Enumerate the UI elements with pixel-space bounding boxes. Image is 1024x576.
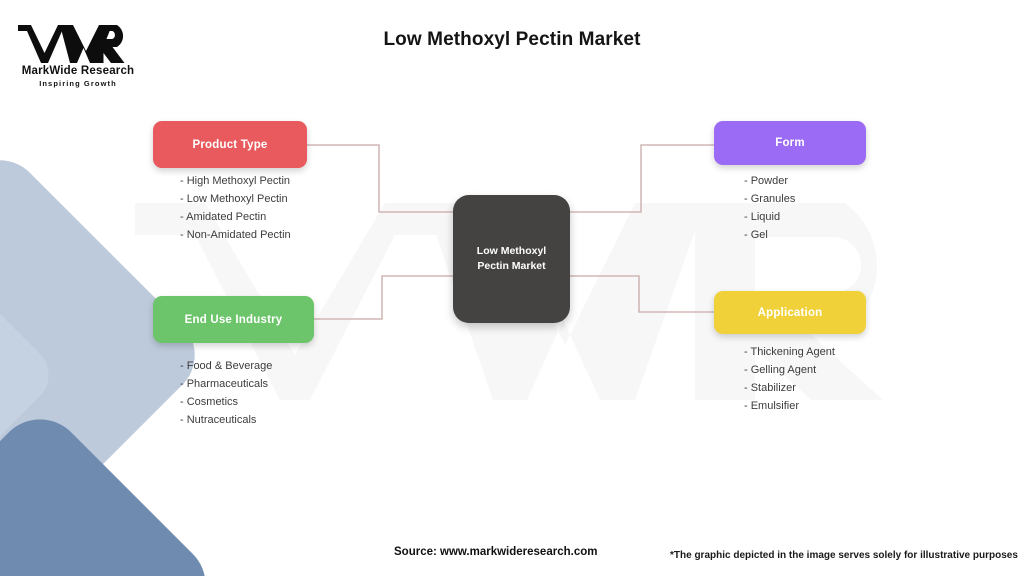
list-item: - Emulsifier	[744, 397, 835, 415]
list-item: - Powder	[744, 172, 795, 190]
list-item: - Thickening Agent	[744, 343, 835, 361]
list-item: - Low Methoxyl Pectin	[180, 190, 291, 208]
segment-list-application: - Thickening Agent - Gelling Agent - Sta…	[744, 343, 835, 415]
list-item: - Food & Beverage	[180, 357, 272, 375]
center-node[interactable]: Low Methoxyl Pectin Market	[453, 195, 570, 323]
segment-list-form: - Powder - Granules - Liquid - Gel	[744, 172, 795, 244]
list-item: - Non-Amidated Pectin	[180, 226, 291, 244]
connector-application	[568, 276, 714, 312]
segment-list-end-use-industry: - Food & Beverage - Pharmaceuticals - Co…	[180, 357, 272, 429]
list-item: - Granules	[744, 190, 795, 208]
connector-end-use-industry	[314, 276, 455, 319]
segment-label-end-use-industry: End Use Industry	[185, 314, 283, 326]
segment-label-product-type: Product Type	[192, 139, 267, 151]
segment-box-form[interactable]: Form	[714, 121, 866, 165]
infographic-canvas: MarkWide Research Inspiring Growth Low M…	[0, 0, 1024, 576]
connector-product-type	[307, 145, 455, 212]
segment-box-end-use-industry[interactable]: End Use Industry	[153, 296, 314, 343]
segment-box-application[interactable]: Application	[714, 291, 866, 334]
list-item: - Pharmaceuticals	[180, 375, 272, 393]
list-item: - Amidated Pectin	[180, 208, 291, 226]
connector-form	[568, 145, 714, 212]
list-item: - Gel	[744, 226, 795, 244]
segment-box-product-type[interactable]: Product Type	[153, 121, 307, 168]
segment-list-product-type: - High Methoxyl Pectin - Low Methoxyl Pe…	[180, 172, 291, 244]
list-item: - Nutraceuticals	[180, 411, 272, 429]
footer-disclaimer: *The graphic depicted in the image serve…	[670, 550, 1018, 561]
center-node-label: Low Methoxyl Pectin Market	[463, 244, 560, 274]
list-item: - Liquid	[744, 208, 795, 226]
list-item: - Stabilizer	[744, 379, 835, 397]
list-item: - Gelling Agent	[744, 361, 835, 379]
segment-label-form: Form	[775, 137, 805, 149]
footer-source: Source: www.markwideresearch.com	[394, 546, 597, 558]
list-item: - Cosmetics	[180, 393, 272, 411]
segment-label-application: Application	[758, 307, 823, 319]
list-item: - High Methoxyl Pectin	[180, 172, 291, 190]
